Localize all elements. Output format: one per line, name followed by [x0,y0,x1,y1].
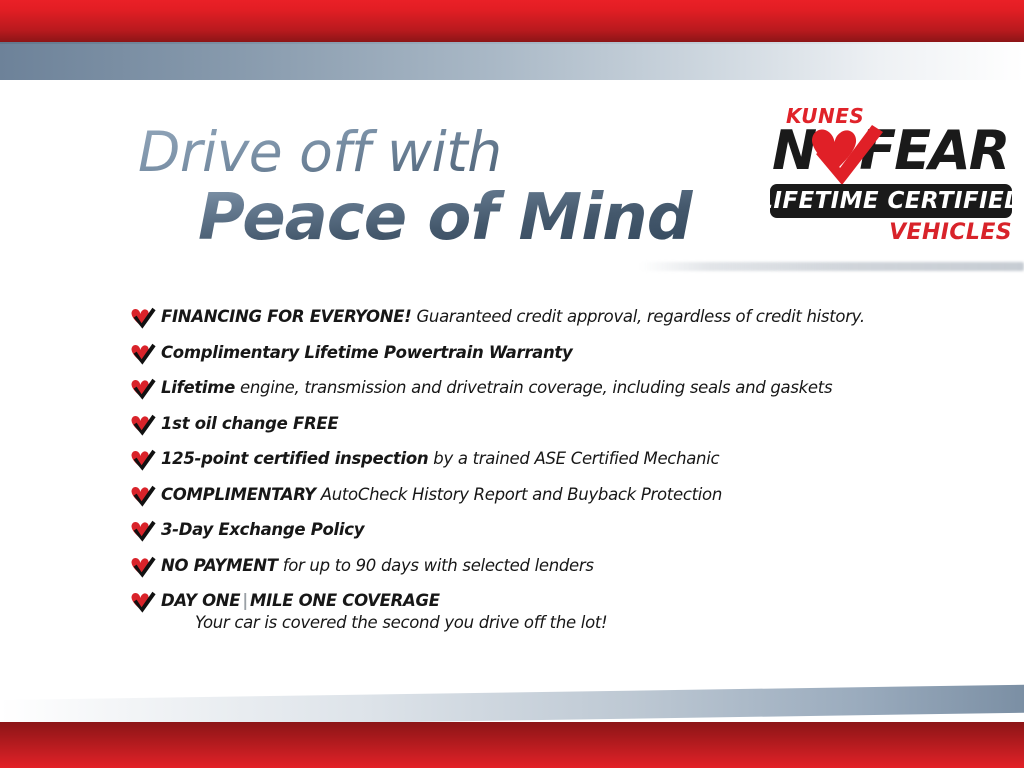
list-item: DAY ONE|MILE ONE COVERAGEYour car is cov… [130,590,930,634]
list-item: FINANCING FOR EVERYONE! Guaranteed credi… [130,306,930,329]
list-item-text: Lifetime engine, transmission and drivet… [161,377,930,398]
heart-check-bullet-icon [130,414,156,436]
list-item-normal: AutoCheck History Report and Buyback Pro… [316,485,722,504]
list-item-text: 1st oil change FREE [161,413,930,434]
headline-underline-divider [640,262,1024,271]
list-item-text: 125-point certified inspection by a trai… [161,448,930,469]
heart-check-bullet-icon [130,485,156,507]
kunes-no-fear-logo: KUNES NFEAR LIFETIME CERTIFIED VEHICLES [768,104,1016,252]
list-item-strong: 1st oil change FREE [161,414,338,433]
list-item-strong: COMPLIMENTARY [161,485,316,504]
heart-check-bullet-icon [130,343,156,365]
heart-check-bullet-icon [130,378,156,400]
list-item-text: 3-Day Exchange Policy [161,519,930,540]
list-item-normal: engine, transmission and drivetrain cove… [235,378,832,397]
advertisement-banner: Drive off with Peace of Mind KUNES NFEAR… [0,0,1024,768]
logo-vehicles-label: VEHICLES [889,220,1012,245]
list-item-text: Complimentary Lifetime Powertrain Warran… [161,342,930,363]
top-red-band [0,0,1024,42]
list-item-strong: FINANCING FOR EVERYONE! [161,307,412,326]
list-item: COMPLIMENTARY AutoCheck History Report a… [130,484,930,507]
logo-lifetime-certified-bar: LIFETIME CERTIFIED [770,184,1012,218]
headline-line-1: Drive off with [136,122,756,182]
bottom-red-band [0,722,1024,768]
headline: Drive off with Peace of Mind [136,122,756,254]
list-item-strong-2: MILE ONE COVERAGE [250,591,440,610]
list-item: Complimentary Lifetime Powertrain Warran… [130,342,930,365]
list-item-strong: Lifetime [161,378,235,397]
list-item-strong: DAY ONE [161,591,240,610]
top-gray-gradient-band [0,42,1024,80]
top-band-divider [0,42,1024,44]
heart-check-bullet-icon [130,520,156,542]
list-item-normal: Guaranteed credit approval, regardless o… [412,307,865,326]
list-item: Lifetime engine, transmission and drivet… [130,377,930,400]
list-item: NO PAYMENT for up to 90 days with select… [130,555,930,578]
headline-line-2: Peace of Mind [136,182,756,254]
list-item: 3-Day Exchange Policy [130,519,930,542]
list-item-strong: 125-point certified inspection [161,449,428,468]
list-item: 1st oil change FREE [130,413,930,436]
list-item-text: DAY ONE|MILE ONE COVERAGEYour car is cov… [161,590,930,634]
list-item-strong: 3-Day Exchange Policy [161,520,364,539]
benefits-list: FINANCING FOR EVERYONE! Guaranteed credi… [130,306,930,647]
heart-checkmark-icon [806,124,884,186]
heart-check-bullet-icon [130,449,156,471]
list-item-text: COMPLIMENTARY AutoCheck History Report a… [161,484,930,505]
list-item-text: NO PAYMENT for up to 90 days with select… [161,555,930,576]
list-item-normal: by a trained ASE Certified Mechanic [428,449,719,468]
list-item-separator: | [240,591,250,610]
list-item-strong: NO PAYMENT [161,556,278,575]
list-item-normal: for up to 90 days with selected lenders [278,556,594,575]
list-item-subtext: Your car is covered the second you drive… [161,611,930,634]
heart-check-bullet-icon [130,556,156,578]
heart-check-bullet-icon [130,591,156,613]
list-item: 125-point certified inspection by a trai… [130,448,930,471]
list-item-strong: Complimentary Lifetime Powertrain Warran… [161,343,572,362]
list-item-text: FINANCING FOR EVERYONE! Guaranteed credi… [161,306,930,327]
logo-bar-label: LIFETIME CERTIFIED [758,188,1023,214]
heart-check-bullet-icon [130,307,156,329]
